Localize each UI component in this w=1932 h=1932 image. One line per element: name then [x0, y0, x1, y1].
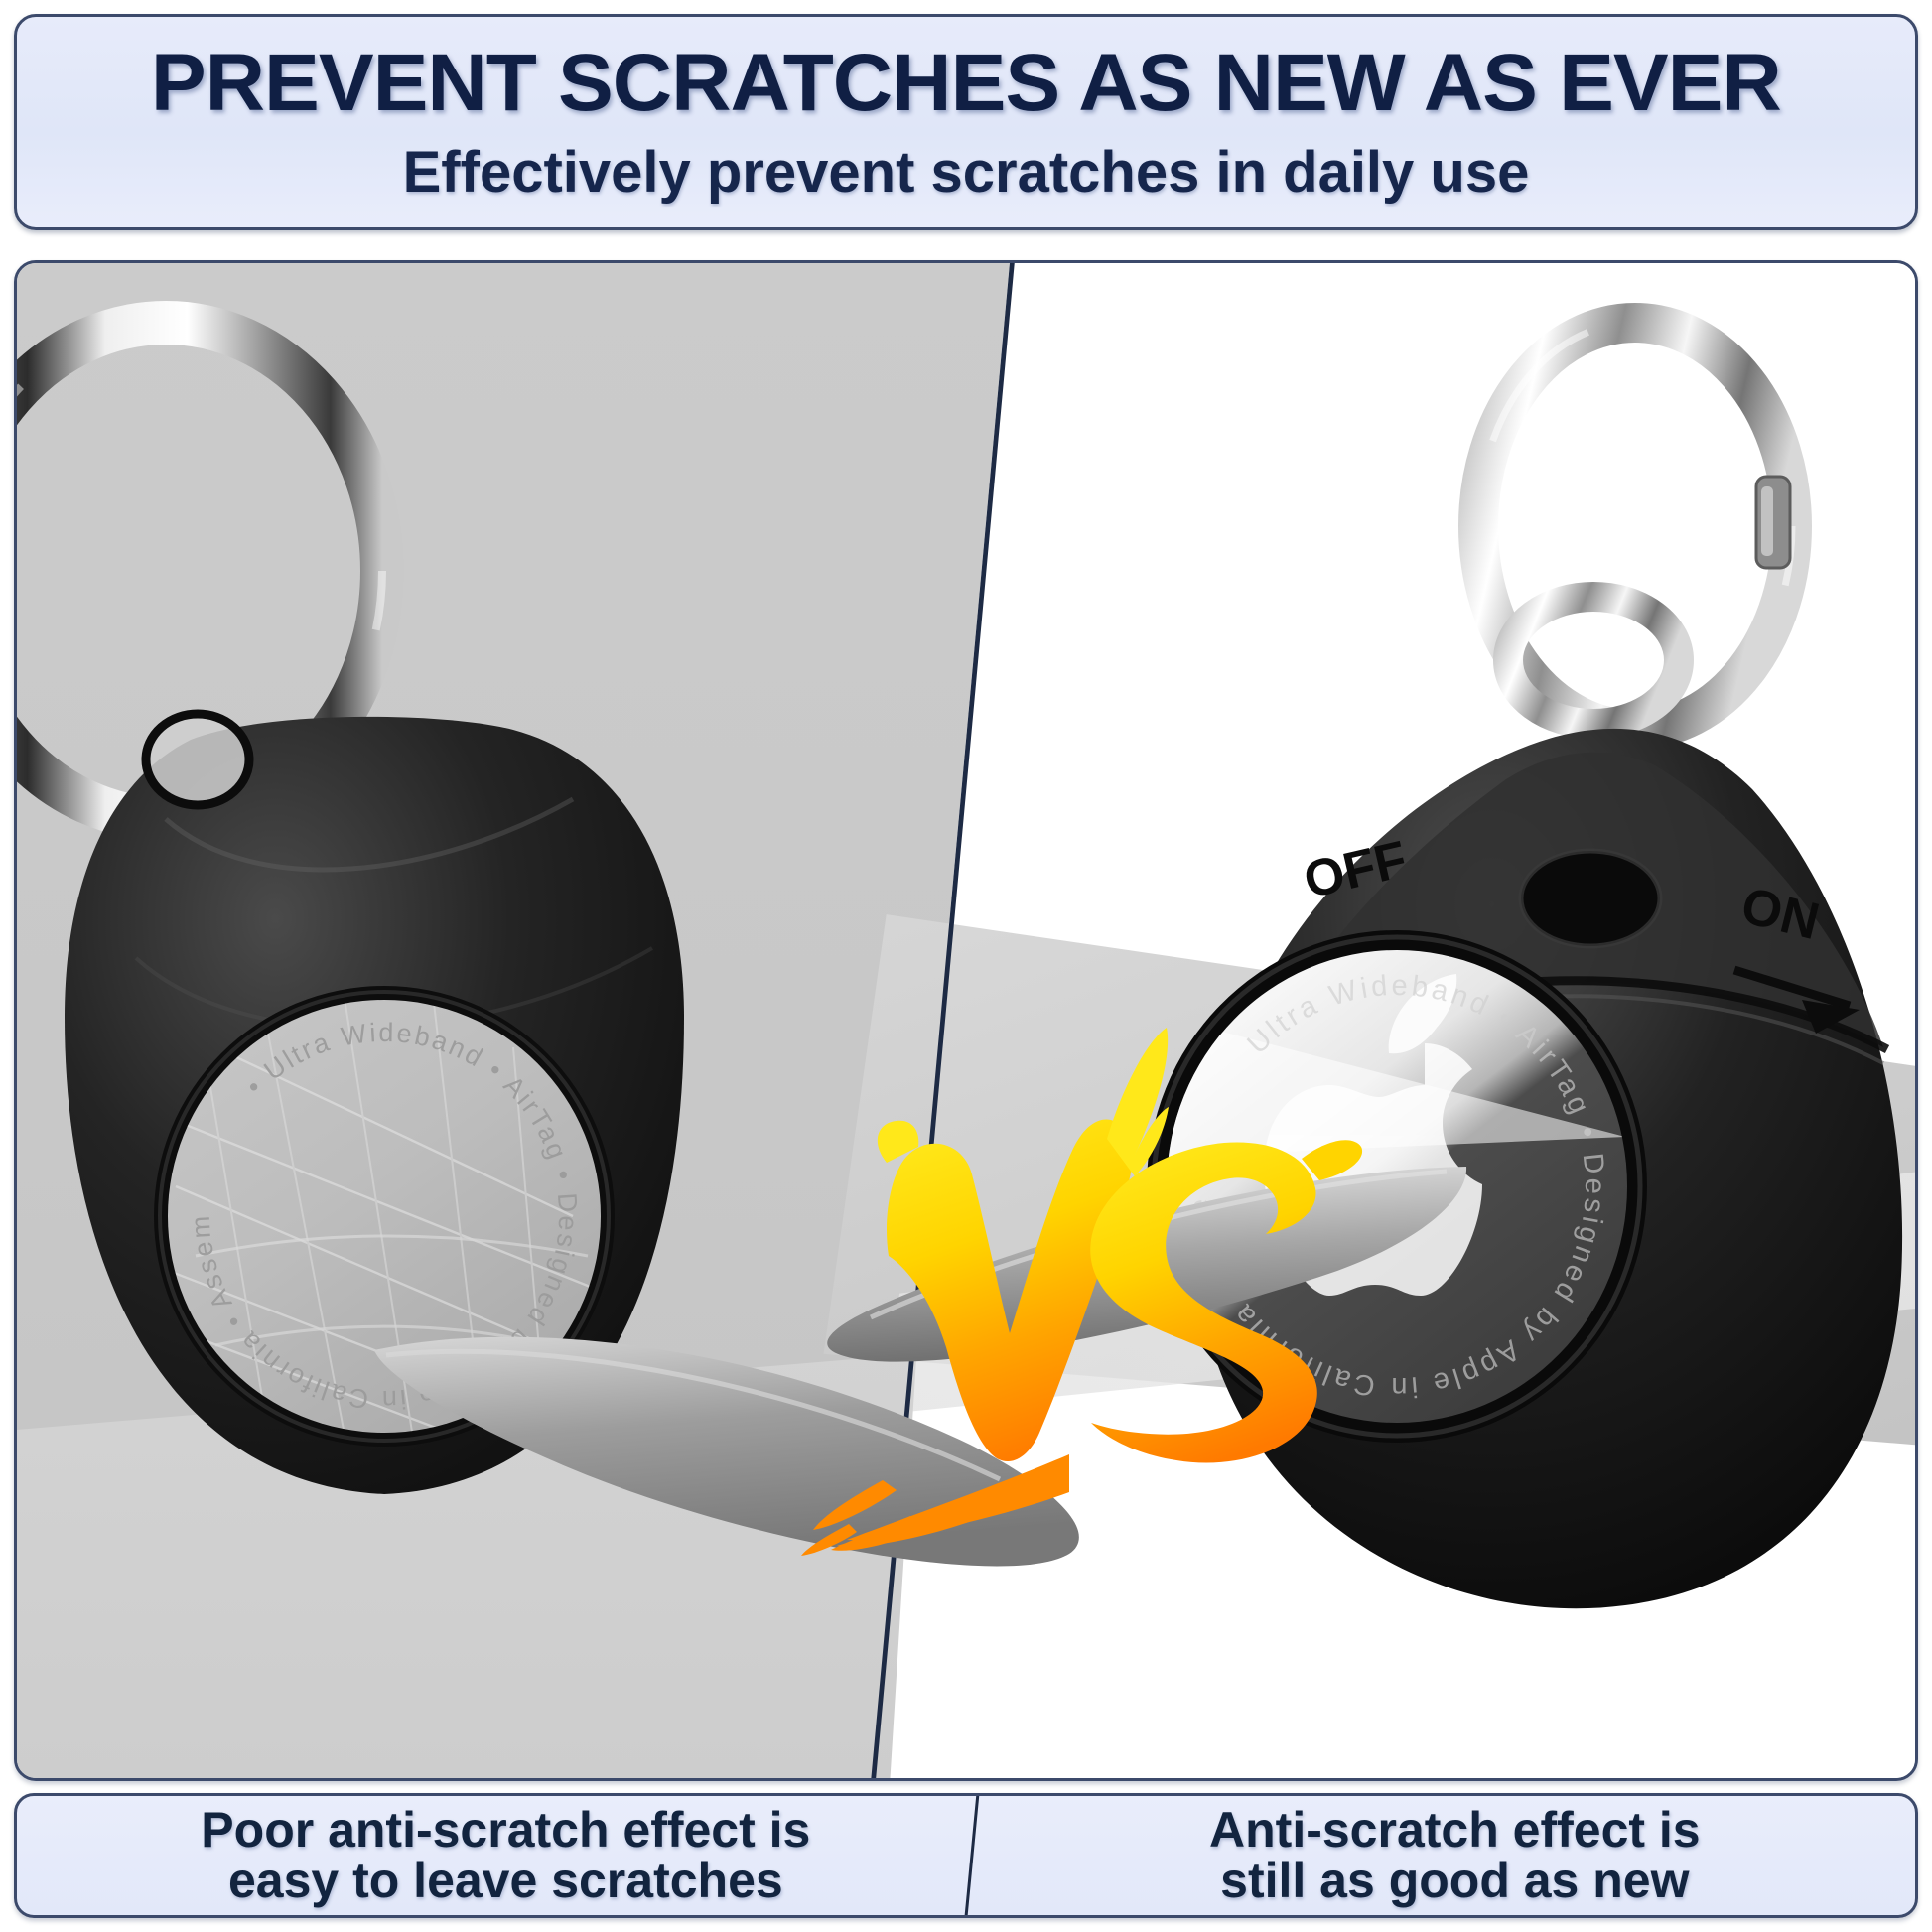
- caption-bar: Poor anti-scratch effect is easy to leav…: [14, 1793, 1918, 1918]
- page-title: PREVENT SCRATCHES AS NEW AS EVER: [151, 43, 1781, 124]
- right-caption-cell: Anti-scratch effect is still as good as …: [995, 1796, 1915, 1915]
- header-card: PREVENT SCRATCHES AS NEW AS EVER Effecti…: [14, 14, 1918, 230]
- right-carabiner-icon: [1478, 323, 1792, 730]
- left-product-group: • Ultra Wideband • AirTag • Designed by …: [17, 263, 1079, 1566]
- comparison-artwork: • Ultra Wideband • AirTag • Designed by …: [17, 263, 1915, 1778]
- page-subtitle: Effectively prevent scratches in daily u…: [403, 144, 1530, 202]
- left-caption: Poor anti-scratch effect is easy to leav…: [201, 1805, 810, 1906]
- right-caption-line1: Anti-scratch effect is: [1209, 1805, 1701, 1856]
- left-caption-cell: Poor anti-scratch effect is easy to leav…: [17, 1796, 995, 1915]
- right-caption-line2: still as good as new: [1209, 1856, 1701, 1906]
- left-caption-line1: Poor anti-scratch effect is: [201, 1805, 810, 1856]
- left-caption-line2: easy to leave scratches: [201, 1856, 810, 1906]
- right-caption: Anti-scratch effect is still as good as …: [1209, 1805, 1701, 1906]
- comparison-photo-frame: • Ultra Wideband • AirTag • Designed by …: [14, 260, 1918, 1781]
- marketing-infographic: PREVENT SCRATCHES AS NEW AS EVER Effecti…: [0, 0, 1932, 1932]
